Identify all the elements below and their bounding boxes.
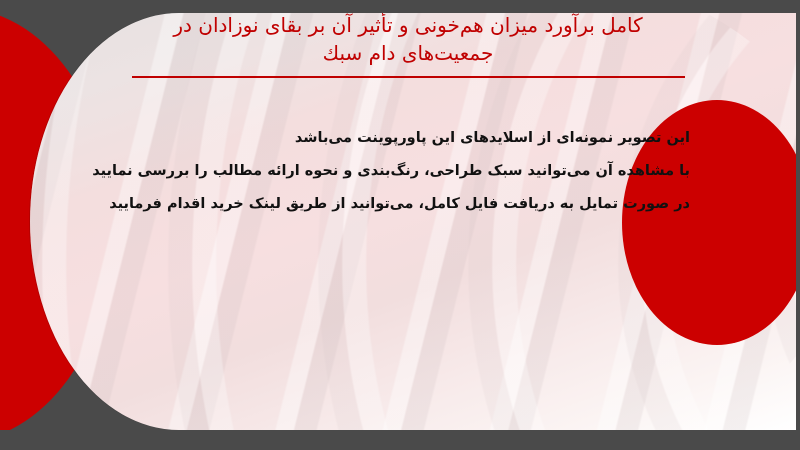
slide-title: کامل برآورد میزان هم‌خونی و تأثیر آن بر … <box>128 12 688 67</box>
frame-bottom-bar <box>0 430 800 450</box>
slide-body: این تصویر نمونه‌ای از اسلایدهای این پاور… <box>110 122 690 221</box>
slide-canvas: کامل برآورد میزان هم‌خونی و تأثیر آن بر … <box>0 0 800 450</box>
frame-right-edge <box>796 0 800 450</box>
frame-top-bar <box>0 0 800 13</box>
body-line-1: این تصویر نمونه‌ای از اسلایدهای این پاور… <box>110 122 690 155</box>
title-underline-rule <box>132 76 685 78</box>
body-line-2: با مشاهده آن می‌توانید سبک طراحی، رنگ‌بن… <box>110 155 690 188</box>
text-layer: کامل برآورد میزان هم‌خونی و تأثیر آن بر … <box>0 0 800 450</box>
body-line-3: در صورت تمایل به دریافت فایل کامل، می‌تو… <box>110 188 690 221</box>
